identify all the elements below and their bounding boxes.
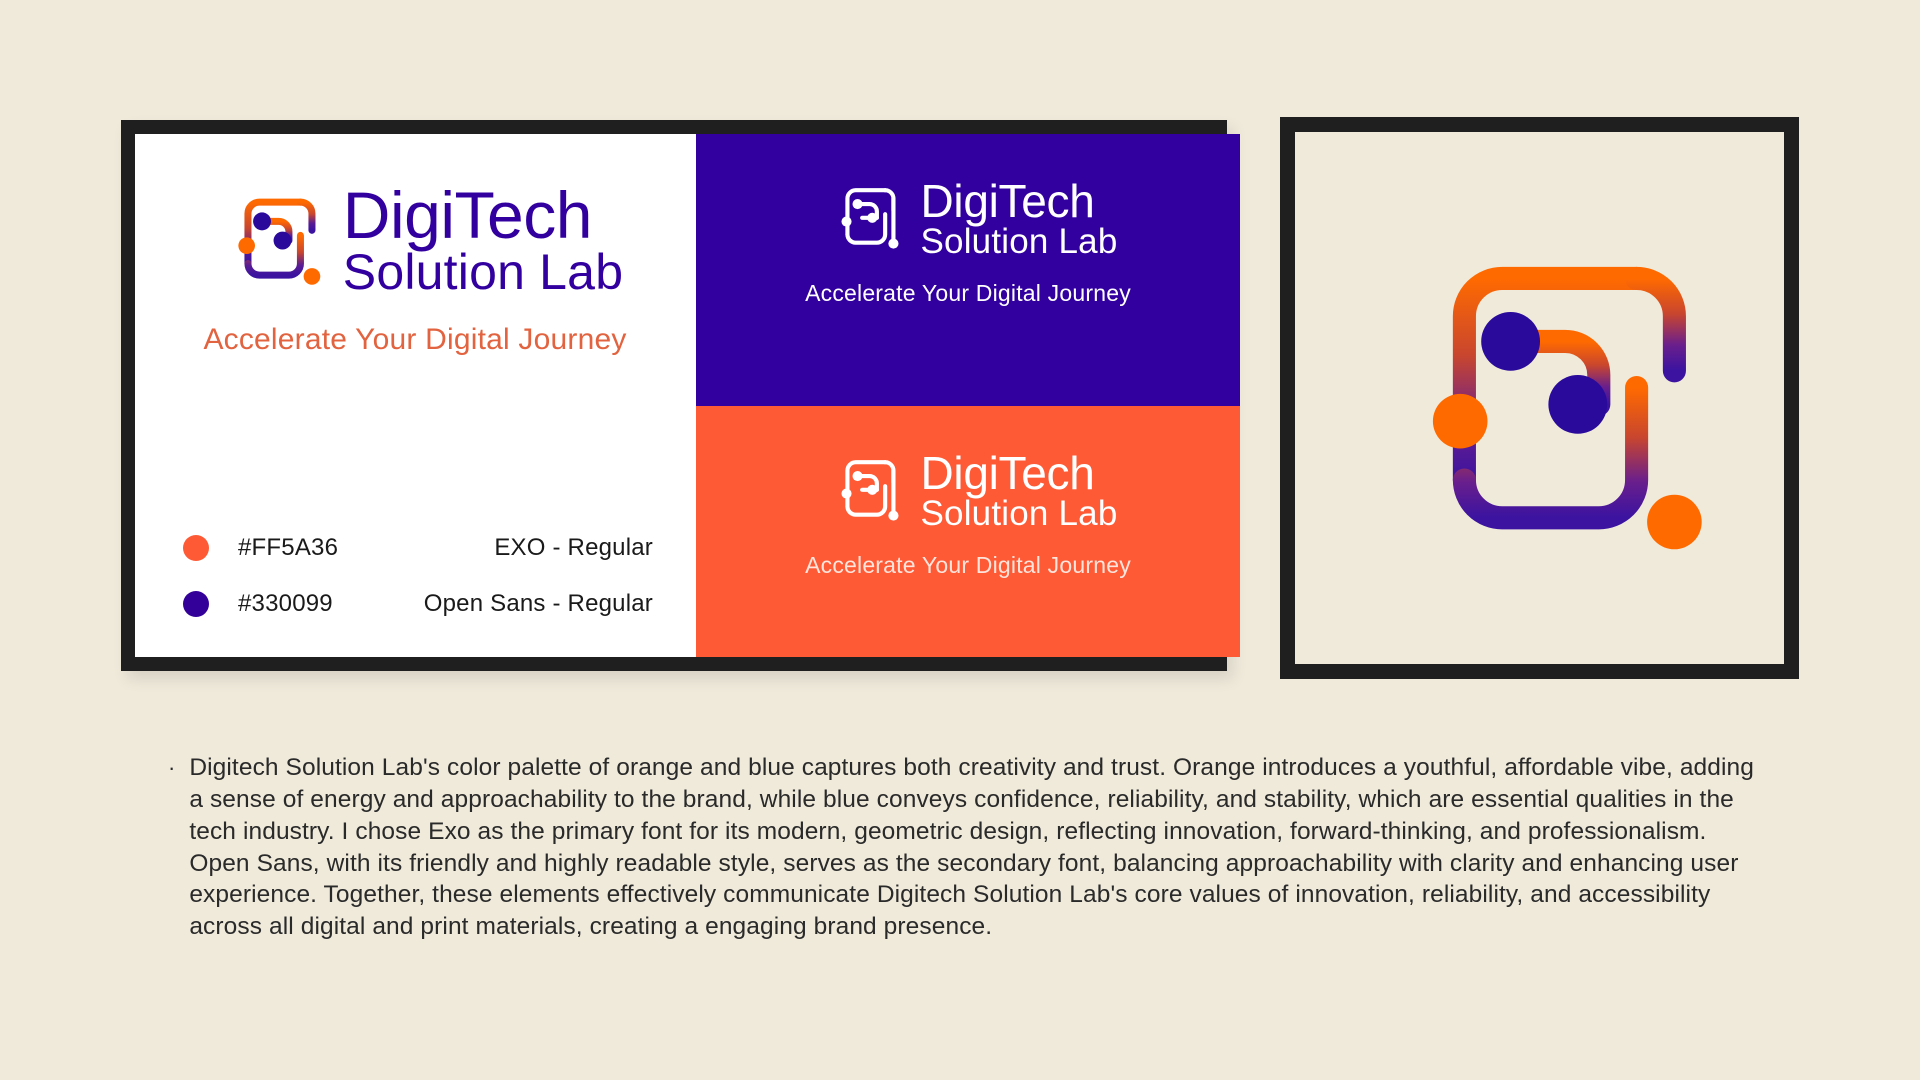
reversed-logo-pane-stack: DigiTech Solution Lab Accelerate Your Di…: [696, 134, 1240, 657]
bullet-icon: ·: [168, 752, 175, 943]
orange-lockup-row: DigiTech Solution Lab: [818, 442, 1117, 539]
primary-tagline: Accelerate Your Digital Journey: [203, 323, 626, 357]
purple-lockup-row: DigiTech Solution Lab: [818, 170, 1117, 267]
orange-tagline: Accelerate Your Digital Journey: [805, 552, 1131, 579]
purple-tagline: Accelerate Your Digital Journey: [805, 280, 1131, 307]
primary-logo-pane: DigiTech Solution Lab Accelerate Your Di…: [135, 134, 696, 657]
wordmark-line-1: DigiTech: [920, 178, 1117, 224]
purple-wordmark: DigiTech Solution Lab: [920, 178, 1117, 259]
brand-rationale-text: Digitech Solution Lab's color palette of…: [189, 752, 1758, 943]
logo-mark-icon-white-purple-pane: [818, 170, 910, 267]
color-hex-purple: #330099: [238, 590, 418, 618]
color-swatch-orange: [183, 535, 209, 561]
wordmark-line-1: DigiTech: [920, 450, 1117, 496]
wordmark-line-2: Solution Lab: [920, 224, 1117, 259]
primary-lockup-row: DigiTech Solution Lab: [207, 174, 623, 307]
font-name-secondary: Open Sans - Regular: [424, 590, 653, 618]
color-swatch-purple: [183, 591, 209, 617]
brand-showcase-card-left: DigiTech Solution Lab Accelerate Your Di…: [121, 120, 1227, 671]
logo-mark-icon-white-orange-pane: [818, 442, 910, 539]
purple-logo-pane: DigiTech Solution Lab Accelerate Your Di…: [696, 134, 1240, 406]
wordmark-line-2: Solution Lab: [343, 248, 623, 298]
wordmark-line-1: DigiTech: [343, 183, 623, 248]
primary-wordmark: DigiTech Solution Lab: [343, 183, 623, 298]
primary-lockup: DigiTech Solution Lab Accelerate Your Di…: [175, 174, 655, 357]
logo-mark-icon-large: [1330, 186, 1750, 611]
brand-spec-list: #FF5A36 EXO - Regular #330099 Open Sans …: [183, 520, 653, 632]
orange-logo-pane: DigiTech Solution Lab Accelerate Your Di…: [696, 406, 1240, 657]
logo-mark-card-right: [1280, 117, 1799, 679]
brand-rationale-paragraph: · Digitech Solution Lab's color palette …: [168, 752, 1758, 943]
wordmark-line-2: Solution Lab: [920, 496, 1117, 531]
logo-mark-stage: [1295, 132, 1784, 664]
purple-lockup: DigiTech Solution Lab Accelerate Your Di…: [696, 170, 1240, 307]
orange-wordmark: DigiTech Solution Lab: [920, 450, 1117, 531]
font-name-primary: EXO - Regular: [494, 534, 653, 562]
orange-lockup: DigiTech Solution Lab Accelerate Your Di…: [696, 442, 1240, 579]
left-card-inner: DigiTech Solution Lab Accelerate Your Di…: [135, 134, 1213, 657]
spec-row-purple: #330099 Open Sans - Regular: [183, 576, 653, 632]
spec-row-orange: #FF5A36 EXO - Regular: [183, 520, 653, 576]
logo-mark-icon: [207, 174, 335, 307]
color-hex-orange: #FF5A36: [238, 534, 418, 562]
